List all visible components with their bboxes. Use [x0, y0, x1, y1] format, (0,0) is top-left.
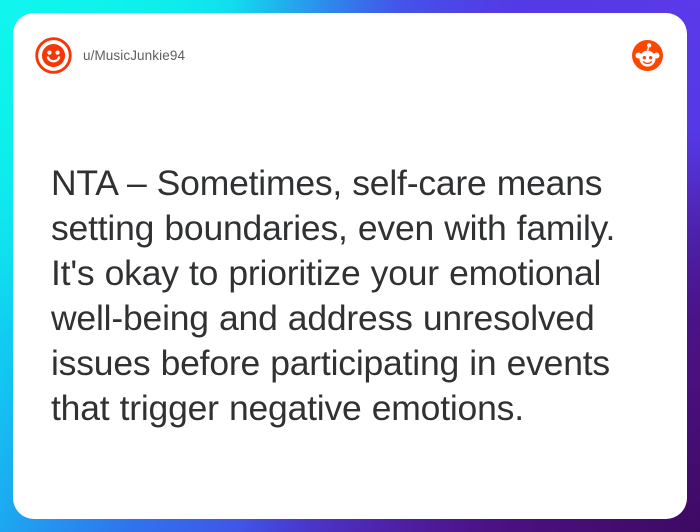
smiley-face-avatar-icon: [35, 37, 72, 74]
reddit-quote-card-screenshot: u/MusicJunkie94 NTA – Sometimes, self-ca…: [0, 0, 700, 532]
card-header: u/MusicJunkie94: [13, 13, 687, 97]
post-text: NTA – Sometimes, self-care means setting…: [51, 161, 649, 431]
username-label: u/MusicJunkie94: [83, 48, 185, 63]
reddit-snoo-logo-icon[interactable]: [632, 40, 663, 71]
user-block[interactable]: u/MusicJunkie94: [35, 37, 185, 74]
post-card: u/MusicJunkie94 NTA – Sometimes, self-ca…: [13, 13, 687, 519]
